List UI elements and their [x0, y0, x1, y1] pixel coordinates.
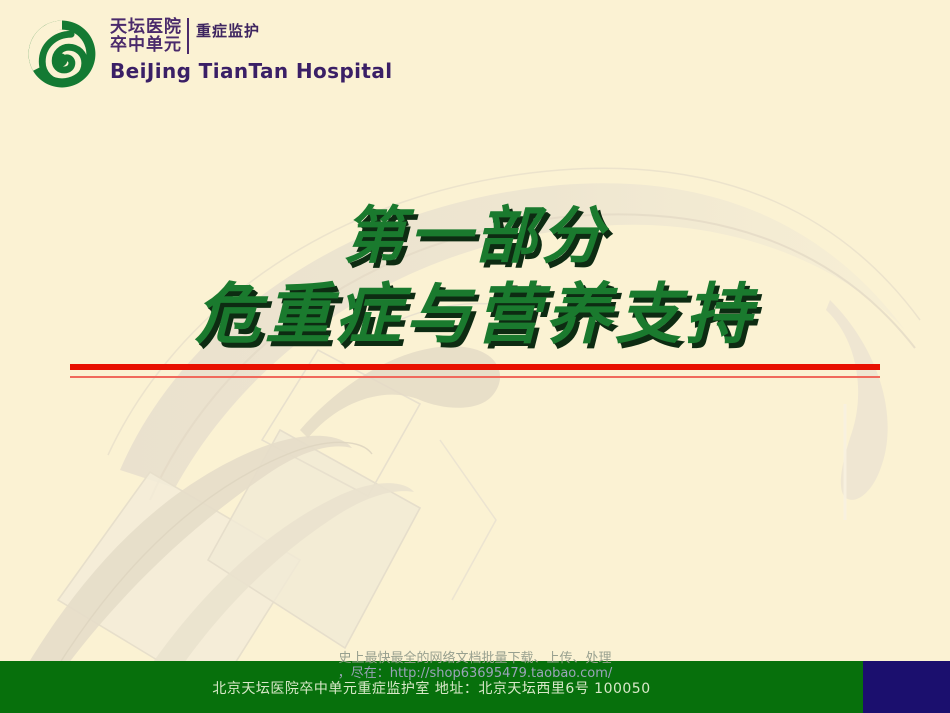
hospital-logo-icon — [24, 16, 100, 92]
title-line-1: 第一部分 — [0, 198, 950, 274]
red-rule-thick — [70, 364, 880, 370]
hospital-brand-header: 天坛医院 卒中单元 重症监护 BeiJing TianTan Hospital — [24, 14, 393, 92]
hospital-english-name: BeiJing TianTan Hospital — [110, 59, 393, 83]
footer-address: 北京天坛医院卒中单元重症监护室 地址：北京天坛西里6号 100050 — [0, 678, 863, 698]
title-line-2: 危重症与营养支持 — [0, 274, 950, 356]
hospital-name-stack: 天坛医院 卒中单元 — [110, 18, 182, 55]
department-label: 重症监护 — [196, 20, 260, 41]
red-rule-thin — [70, 376, 880, 378]
hospital-name-line-2: 卒中单元 — [110, 36, 182, 54]
brand-chinese-row: 天坛医院 卒中单元 重症监护 — [110, 18, 393, 55]
brand-divider — [187, 18, 189, 54]
slide-canvas: 天坛医院 卒中单元 重症监护 BeiJing TianTan Hospital … — [0, 0, 950, 713]
brand-text-block: 天坛医院 卒中单元 重症监护 BeiJing TianTan Hospital — [110, 14, 393, 83]
hospital-name-line-1: 天坛医院 — [110, 18, 182, 36]
background-watermark-art — [0, 0, 950, 713]
slide-title: 第一部分 危重症与营养支持 — [0, 198, 950, 356]
